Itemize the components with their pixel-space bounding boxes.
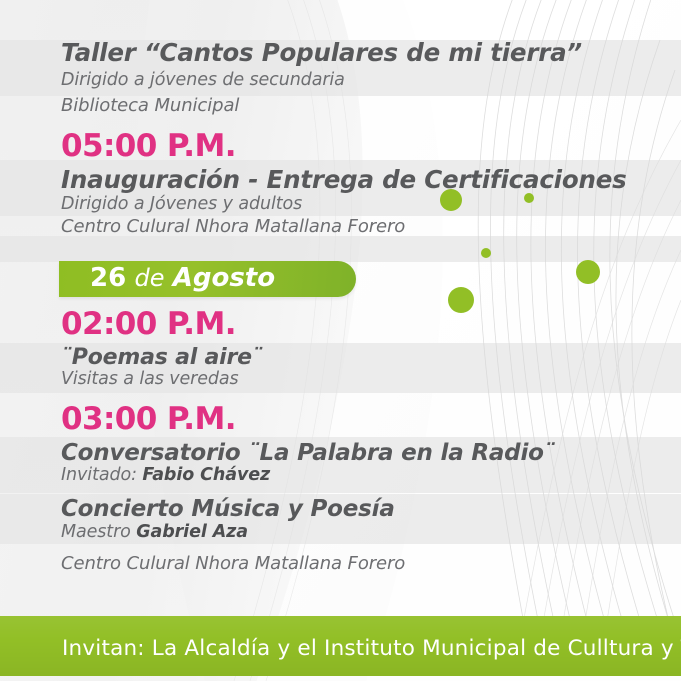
entry-time-2: 02:00 P.M. [61, 306, 236, 342]
footer-banner-text: Invitan: La Alcaldía y el Instituto Muni… [62, 636, 681, 661]
entry-title-3: Conversatorio ¨La Palabra en la Radio¨ [61, 440, 555, 466]
date-pill-month: Agosto [173, 263, 275, 293]
schedule-list: Taller “Cantos Populares de mi tierra” D… [0, 0, 681, 615]
entry-venue-1: Centro Culural Nhora Matallana Forero [61, 216, 405, 237]
entry-time-3: 03:00 P.M. [61, 401, 236, 437]
entry-audience-1: Dirigido a Jóvenes y adultos [61, 194, 302, 214]
entry-guest-name-3: Fabio Chávez [142, 465, 270, 485]
entry-guest-label-4: Maestro [61, 522, 131, 542]
entry-title-0: Taller “Cantos Populares de mi tierra” [61, 38, 582, 67]
entry-venue-0: Biblioteca Municipal [61, 95, 239, 116]
entry-title-4: Concierto Música y Poesía [61, 496, 395, 522]
entry-guest-3: Invitado: Fabio Chávez [61, 465, 270, 485]
entry-title-2: ¨Poemas al aire¨ [61, 345, 263, 370]
entry-audience-0: Dirigido a jóvenes de secundaria [61, 70, 345, 90]
date-pill-connector: de [134, 264, 164, 292]
entry-title-1: Inauguración - Entrega de Certificacione… [61, 165, 627, 194]
entry-guest-4: Maestro Gabriel Aza [61, 522, 248, 542]
entry-time-1: 05:00 P.M. [61, 128, 236, 164]
entry-venue-4: Centro Culural Nhora Matallana Forero [61, 553, 405, 574]
entry-audience-2: Visitas a las veredas [61, 369, 239, 389]
date-pill-text: 26 de Agosto [90, 263, 275, 293]
entry-guest-label-3: Invitado: [61, 465, 137, 485]
poster-canvas: Taller “Cantos Populares de mi tierra” D… [0, 0, 681, 681]
date-pill-day: 26 [90, 263, 126, 293]
entry-guest-name-4: Gabriel Aza [136, 522, 248, 542]
